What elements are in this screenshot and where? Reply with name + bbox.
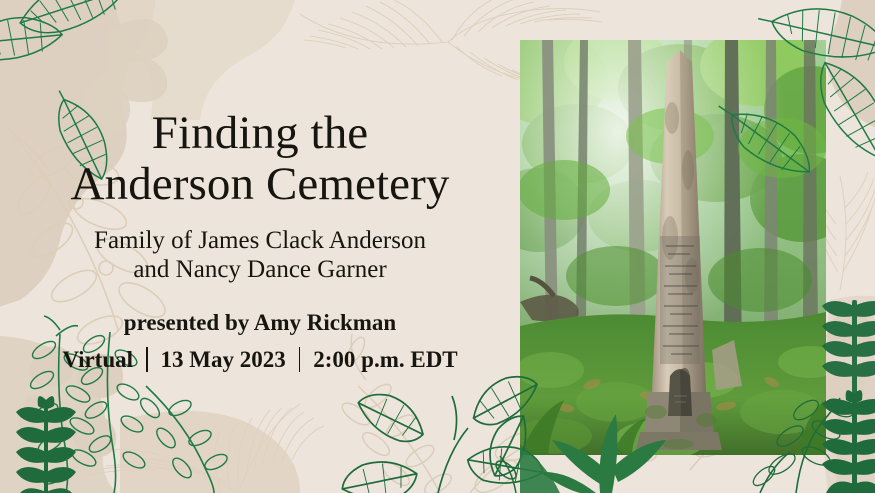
event-details: Virtual 13 May 2023 2:00 p.m. EDT (0, 347, 520, 373)
event-format: Virtual (62, 347, 133, 373)
subtitle-line-2: and Nancy Dance Garner (0, 255, 520, 284)
page-title: Finding the Anderson Cemetery (0, 108, 520, 210)
subtitle: Family of James Clack Anderson and Nancy… (0, 226, 520, 284)
presentation-slide: Finding the Anderson Cemetery Family of … (0, 0, 875, 493)
cemetery-photograph (520, 40, 826, 455)
forest-monument-illustration (520, 40, 826, 455)
small-headstone (668, 368, 692, 416)
title-line-2: Anderson Cemetery (0, 159, 520, 210)
event-time: 2:00 p.m. EDT (313, 347, 457, 373)
event-date: 13 May 2023 (161, 347, 286, 373)
subtitle-line-1: Family of James Clack Anderson (94, 227, 426, 254)
presenter-line: presented by Amy Rickman (0, 310, 520, 336)
title-line-1: Finding the (152, 107, 369, 159)
detail-separator-2 (299, 347, 301, 372)
detail-separator-1 (146, 347, 148, 372)
slide-text-block: Finding the Anderson Cemetery Family of … (0, 108, 520, 373)
